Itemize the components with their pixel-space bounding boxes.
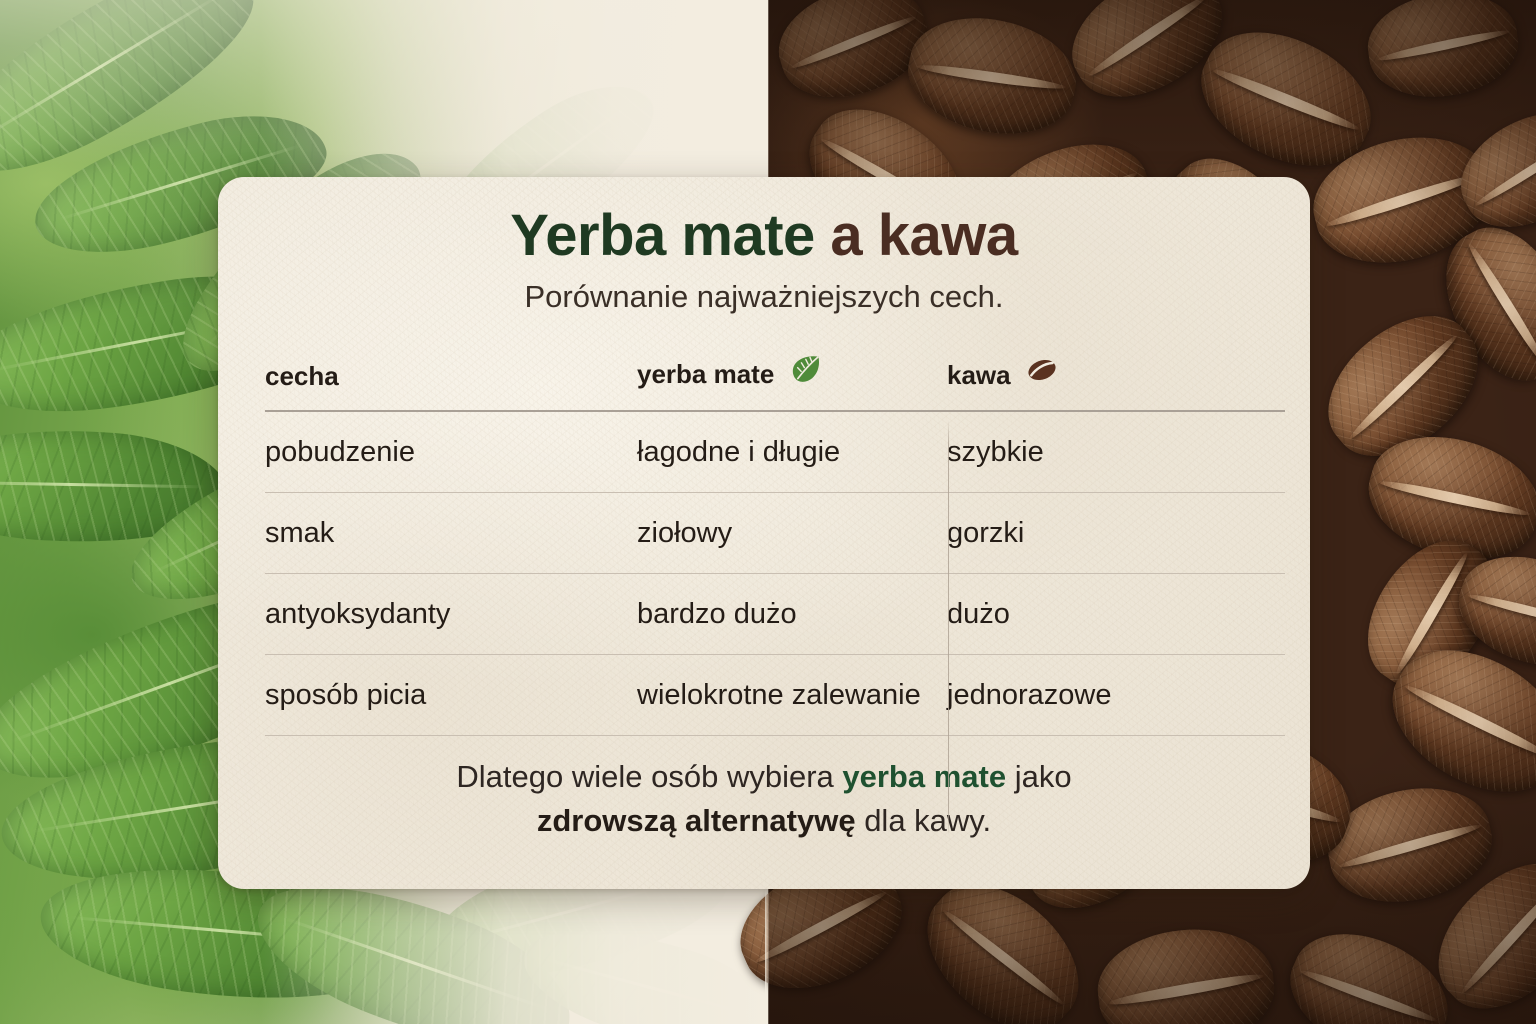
- table-row: pobudzenie łagodne i długie szybkie: [265, 411, 1285, 493]
- column-header-feature-label: cecha: [265, 361, 339, 392]
- cell-yerba-mate: wielokrotne zalewanie: [637, 655, 947, 736]
- title-part-a-kawa: a kawa: [815, 203, 1018, 268]
- cell-feature: smak: [265, 493, 637, 574]
- title-part-yerba-mate: Yerba mate: [510, 203, 815, 268]
- table-column-divider: [948, 420, 949, 835]
- cell-kawa: szybkie: [947, 411, 1285, 493]
- comparison-table: cecha yerba mate: [265, 357, 1285, 736]
- table-body: pobudzenie łagodne i długie szybkie smak…: [265, 411, 1285, 736]
- footer-line1-before: Dlatego wiele osób wybiera: [456, 759, 842, 794]
- column-header-kawa: kawa: [947, 357, 1285, 411]
- page-subtitle: Porównanie najważniejszych cech.: [218, 281, 1310, 312]
- footer-line2-after: dla kawy.: [856, 803, 992, 838]
- cell-kawa: gorzki: [947, 493, 1285, 574]
- cell-feature: sposób picia: [265, 655, 637, 736]
- footer-line1-after: jako: [1006, 759, 1071, 794]
- coffee-bean-icon: [1027, 357, 1057, 390]
- column-header-yerba-mate: yerba mate: [637, 357, 947, 411]
- cell-kawa: jednorazowe: [947, 655, 1285, 736]
- card-footer-text: Dlatego wiele osób wybiera yerba mate ja…: [278, 755, 1250, 843]
- table-row: antyoksydanty bardzo dużo dużo: [265, 574, 1285, 655]
- column-header-feature: cecha: [265, 357, 637, 411]
- column-header-yerba-mate-label: yerba mate: [637, 359, 774, 390]
- table-header: cecha yerba mate: [265, 357, 1285, 411]
- comparison-card: Yerba mate a kawa Porównanie najważniejs…: [218, 177, 1310, 889]
- cell-kawa: dużo: [947, 574, 1285, 655]
- cell-feature: pobudzenie: [265, 411, 637, 493]
- cell-yerba-mate: bardzo dużo: [637, 574, 947, 655]
- cell-yerba-mate: ziołowy: [637, 493, 947, 574]
- footer-highlight-yerba-mate: yerba mate: [842, 759, 1006, 794]
- leaf-icon: [791, 355, 821, 390]
- table-header-row: cecha yerba mate: [265, 357, 1285, 411]
- column-header-kawa-label: kawa: [947, 360, 1011, 391]
- cell-yerba-mate: łagodne i długie: [637, 411, 947, 493]
- table-row: sposób picia wielokrotne zalewanie jedno…: [265, 655, 1285, 736]
- page-title: Yerba mate a kawa: [218, 207, 1310, 265]
- footer-highlight-healthier-alternative: zdrowszą alternatywę: [537, 803, 856, 838]
- cell-feature: antyoksydanty: [265, 574, 637, 655]
- table-row: smak ziołowy gorzki: [265, 493, 1285, 574]
- infographic-canvas: Yerba mate a kawa Porównanie najważniejs…: [0, 0, 1536, 1024]
